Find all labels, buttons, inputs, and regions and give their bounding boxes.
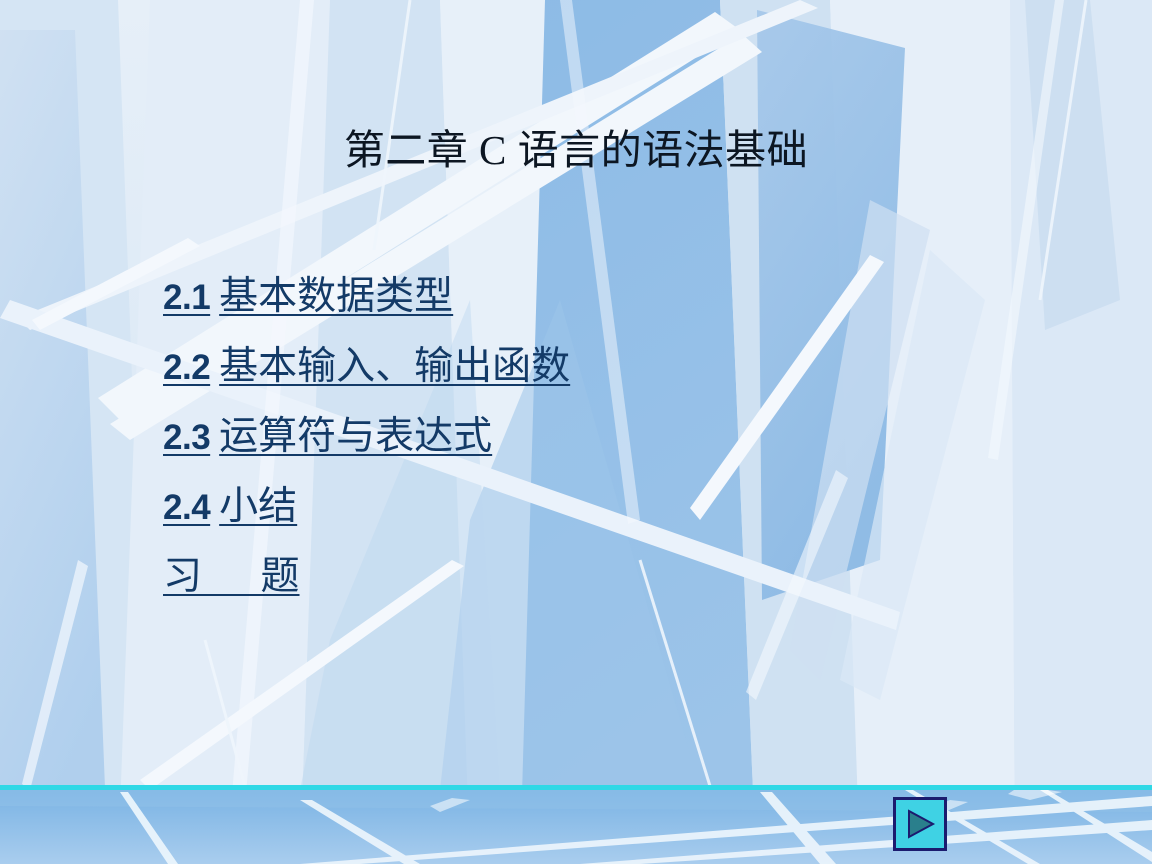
toc-label: 运算符与表达式: [210, 415, 492, 458]
toc-link-exercises[interactable]: 习 题: [163, 545, 300, 601]
toc-link-2-2[interactable]: 2.2基本输入、输出函数: [163, 335, 570, 391]
list-item[interactable]: 2.2基本输入、输出函数: [163, 328, 963, 398]
list-item[interactable]: 2.4小结: [163, 468, 963, 538]
toc-label: 基本输入、输出函数: [210, 345, 570, 388]
list-item[interactable]: 2.3运算符与表达式: [163, 398, 963, 468]
accent-divider: [0, 785, 1152, 790]
table-of-contents: 2.1基本数据类型 2.2基本输入、输出函数 2.3运算符与表达式 2.4小结 …: [163, 258, 963, 608]
toc-link-2-1[interactable]: 2.1基本数据类型: [163, 265, 453, 321]
toc-number: 2.2: [163, 348, 210, 387]
toc-label: 小结: [210, 485, 297, 528]
next-slide-button[interactable]: [893, 797, 947, 851]
toc-link-2-3[interactable]: 2.3运算符与表达式: [163, 405, 492, 461]
toc-link-2-4[interactable]: 2.4小结: [163, 475, 297, 531]
toc-label: 基本数据类型: [210, 275, 453, 318]
toc-number: 2.1: [163, 278, 210, 317]
page-title: 第二章 C 语言的语法基础: [0, 126, 1152, 174]
toc-number: 2.4: [163, 488, 210, 527]
list-item[interactable]: 2.1基本数据类型: [163, 258, 963, 328]
list-item[interactable]: 习 题: [163, 538, 963, 608]
toc-number: 2.3: [163, 418, 210, 457]
play-triangle-icon: [904, 808, 936, 840]
slide-canvas: 第二章 C 语言的语法基础 2.1基本数据类型 2.2基本输入、输出函数 2.3…: [0, 0, 1152, 864]
